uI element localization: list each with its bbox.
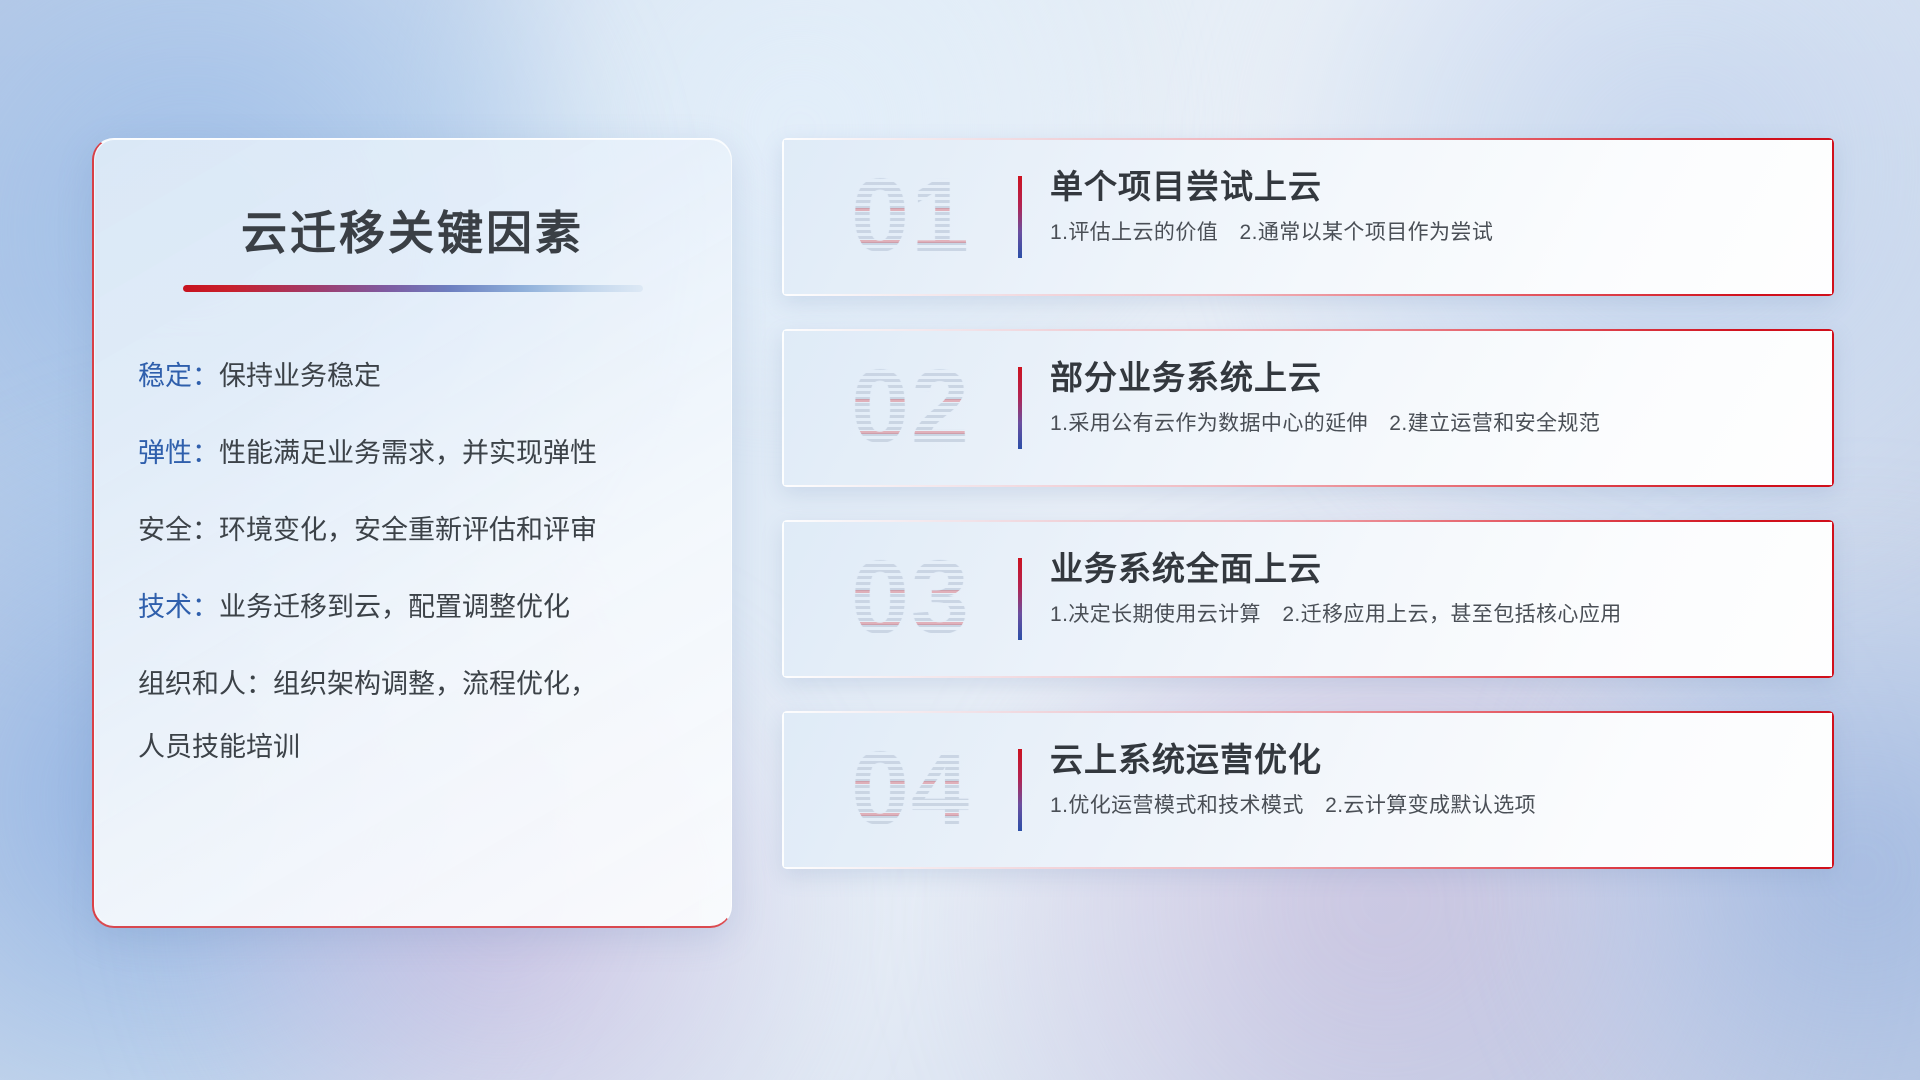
factor-item-stability: 稳定：保持业务稳定 [138,360,731,393]
factor-key-stability: 稳定： [138,361,219,391]
stage-card-03[interactable]: 03 03 业务系统全面上云 1.决定长期使用云计算 2.迁移应用上云，甚至包括… [782,520,1834,678]
factor-key-security: 安全： [138,515,219,545]
factor-item-security: 安全：环境变化，安全重新评估和评审 [138,514,731,547]
stage-number-01: 01 [816,152,1006,280]
card-border-right [1832,711,1834,869]
card-border-top [782,329,1834,331]
card-border-bottom [782,294,1834,296]
card-title-04: 云上系统运营优化 [1050,739,1804,780]
card-border-left [782,711,784,869]
stage-card-04[interactable]: 04 04 云上系统运营优化 1.优化运营模式和技术模式 2.云计算变成默认选项 [782,711,1834,869]
card-border-left [782,520,784,678]
card-accent-bar [1018,558,1022,640]
card-description-03: 1.决定长期使用云计算 2.迁移应用上云，甚至包括核心应用 [1050,601,1804,628]
migration-stage-card-list: 01 01 单个项目尝试上云 1.评估上云的价值 2.通常以某个项目作为尝试 0… [782,138,1834,928]
card-description-02: 1.采用公有云作为数据中心的延伸 2.建立运营和安全规范 [1050,410,1804,437]
card-title-01: 单个项目尝试上云 [1050,166,1804,207]
factor-value-elasticity: 性能满足业务需求，并实现弹性 [219,438,597,468]
key-factors-panel: 云迁移关键因素 稳定：保持业务稳定 弹性：性能满足业务需求，并实现弹性 安全：环… [92,138,732,928]
card-border-right [1832,520,1834,678]
card-border-top [782,520,1834,522]
card-border-top [782,138,1834,140]
card-description-01: 1.评估上云的价值 2.通常以某个项目作为尝试 [1050,219,1804,246]
card-border-left [782,138,784,296]
stage-number-03: 03 [816,534,1006,662]
card-body-03: 业务系统全面上云 1.决定长期使用云计算 2.迁移应用上云，甚至包括核心应用 [1050,548,1804,629]
slide-stage: 云迁移关键因素 稳定：保持业务稳定 弹性：性能满足业务需求，并实现弹性 安全：环… [0,0,1920,1080]
card-body-04: 云上系统运营优化 1.优化运营模式和技术模式 2.云计算变成默认选项 [1050,739,1804,820]
stage-card-02[interactable]: 02 02 部分业务系统上云 1.采用公有云作为数据中心的延伸 2.建立运营和安… [782,329,1834,487]
factor-value-organization-cont: 人员技能培训 [138,732,300,762]
factor-item-technology: 技术：业务迁移到云，配置调整优化 [138,591,731,624]
card-border-left [782,329,784,487]
factor-value-technology: 业务迁移到云，配置调整优化 [219,592,570,622]
card-accent-bar [1018,176,1022,258]
factor-key-elasticity: 弹性： [138,438,219,468]
card-accent-bar [1018,749,1022,831]
card-border-top [782,711,1834,713]
stage-number-02: 02 [816,343,1006,471]
card-border-right [1832,329,1834,487]
card-title-03: 业务系统全面上云 [1050,548,1804,589]
card-accent-bar [1018,367,1022,449]
card-body-01: 单个项目尝试上云 1.评估上云的价值 2.通常以某个项目作为尝试 [1050,166,1804,247]
factor-key-organization: 组织和人： [138,669,273,699]
factor-item-organization: 组织和人：组织架构调整，流程优化， [138,668,731,701]
factor-value-organization: 组织架构调整，流程优化， [273,669,597,699]
card-border-bottom [782,676,1834,678]
card-description-04: 1.优化运营模式和技术模式 2.云计算变成默认选项 [1050,792,1804,819]
stage-card-01[interactable]: 01 01 单个项目尝试上云 1.评估上云的价值 2.通常以某个项目作为尝试 [782,138,1834,296]
factor-item-organization-cont: 人员技能培训 [138,731,731,764]
factor-value-security: 环境变化，安全重新评估和评审 [219,515,597,545]
stage-number-04: 04 [816,725,1006,853]
factor-item-elasticity: 弹性：性能满足业务需求，并实现弹性 [138,437,731,470]
card-body-02: 部分业务系统上云 1.采用公有云作为数据中心的延伸 2.建立运营和安全规范 [1050,357,1804,438]
card-border-bottom [782,867,1834,869]
card-title-02: 部分业务系统上云 [1050,357,1804,398]
title-underline-rule [183,285,643,292]
card-border-bottom [782,485,1834,487]
factor-value-stability: 保持业务稳定 [219,361,381,391]
page-title: 云迁移关键因素 [94,197,731,263]
factor-list: 稳定：保持业务稳定 弹性：性能满足业务需求，并实现弹性 安全：环境变化，安全重新… [94,360,731,764]
card-border-right [1832,138,1834,296]
factor-key-technology: 技术： [138,592,219,622]
